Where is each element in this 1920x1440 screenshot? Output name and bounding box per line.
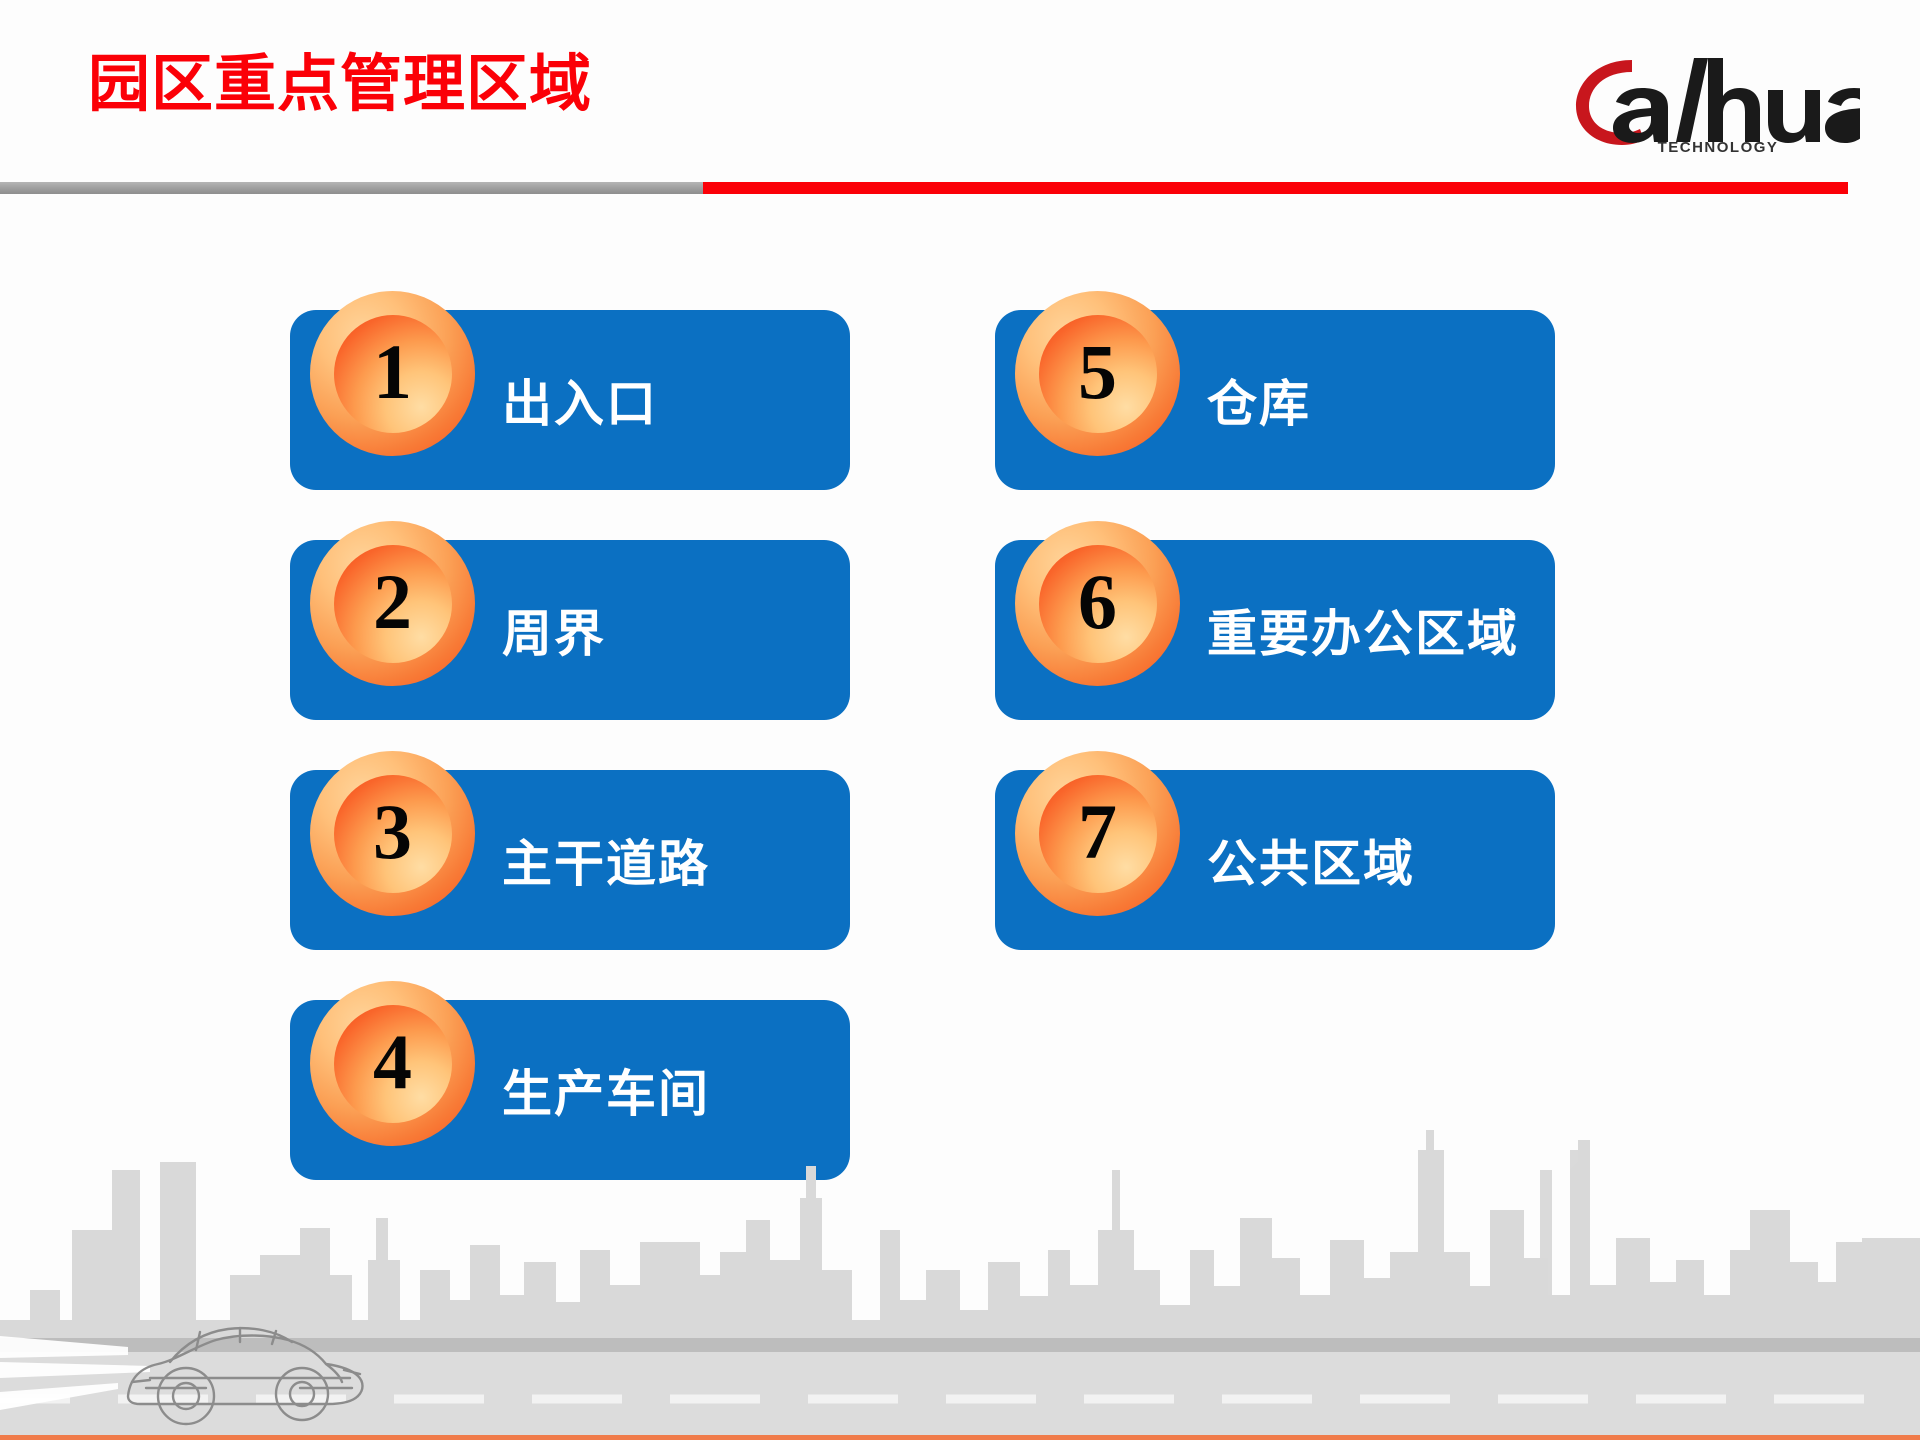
number-badge-7: 7 <box>1015 751 1180 916</box>
number-badge-inner-7: 7 <box>1039 775 1157 893</box>
number-badge-inner-3: 3 <box>334 775 452 893</box>
number-badge-inner-1: 1 <box>334 315 452 433</box>
card-label-6: 重要办公区域 <box>1207 540 1519 720</box>
badge-number-label: 3 <box>373 793 412 871</box>
number-badge-2: 2 <box>310 521 475 686</box>
number-badge-5: 5 <box>1015 291 1180 456</box>
card-item-1[interactable]: 1 出入口 <box>290 310 850 490</box>
card-label-2: 周界 <box>502 540 606 720</box>
badge-number-label: 5 <box>1078 333 1117 411</box>
card-label-7: 公共区域 <box>1207 770 1415 950</box>
card-item-7[interactable]: 7 公共区域 <box>995 770 1555 950</box>
number-badge-inner-2: 2 <box>334 545 452 663</box>
badge-number-label: 2 <box>373 563 412 641</box>
badge-number-label: 1 <box>373 333 412 411</box>
card-item-3[interactable]: 3 主干道路 <box>290 770 850 950</box>
card-item-5[interactable]: 5 仓库 <box>995 310 1555 490</box>
card-item-2[interactable]: 2 周界 <box>290 540 850 720</box>
number-badge-1: 1 <box>310 291 475 456</box>
badge-number-label: 6 <box>1078 563 1117 641</box>
number-badge-6: 6 <box>1015 521 1180 686</box>
card-item-6[interactable]: 6 重要办公区域 <box>995 540 1555 720</box>
bottom-accent-rule <box>0 1435 1920 1440</box>
city-skyline-decoration <box>0 1110 1920 1440</box>
badge-number-label: 4 <box>373 1023 412 1101</box>
number-badge-inner-5: 5 <box>1039 315 1157 433</box>
card-label-1: 出入口 <box>502 310 658 490</box>
number-badge-inner-6: 6 <box>1039 545 1157 663</box>
slide-canvas: 园区重点管理区域 TECHNOLOGY 1 出入口 <box>0 0 1920 1440</box>
card-label-5: 仓库 <box>1207 310 1311 490</box>
card-label-3: 主干道路 <box>502 770 710 950</box>
badge-number-label: 7 <box>1078 793 1117 871</box>
number-badge-3: 3 <box>310 751 475 916</box>
skyline-towers <box>1540 1150 1580 1310</box>
number-badge-inner-4: 4 <box>334 1005 452 1123</box>
